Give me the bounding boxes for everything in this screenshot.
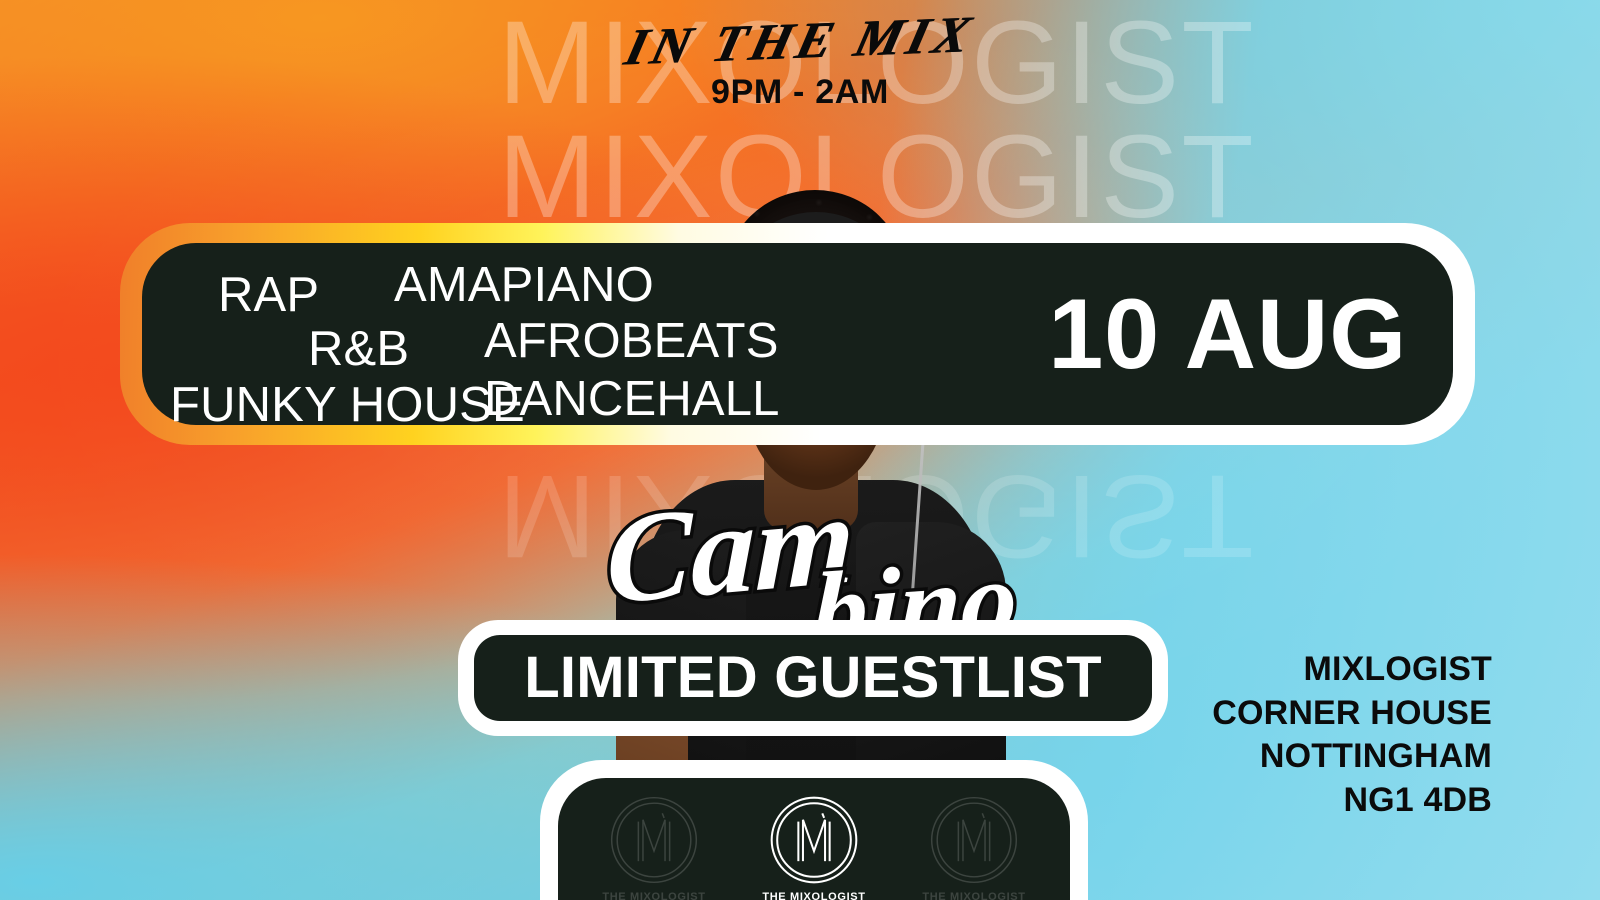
brand-logo-left: THE MIXOLOGIST CORNERHOUSE [594,794,714,900]
genres-date-pill: RAP AMAPIANO R&B AFROBEATS FUNKY HOUSE D… [120,223,1475,445]
venue-line-2: CORNER HOUSE [1212,692,1492,736]
genre-item-funky-house: FUNKY HOUSE [170,381,525,430]
mixologist-m-icon-center [768,794,860,886]
genre-item-afrobeats: AFROBEATS [484,317,779,366]
event-time: 9PM - 2AM [0,73,1600,112]
venue-address: MIXLOGIST CORNER HOUSE NOTTINGHAM NG1 4D… [1212,648,1492,822]
brand-logo-right: THE MIXOLOGIST CORNERHOUSE [914,794,1034,900]
brand-logo-center-line1: THE MIXOLOGIST [762,891,865,900]
brand-logo-left-line1: THE MIXOLOGIST [602,891,705,900]
logo-bar: THE MIXOLOGIST CORNERHOUSE [540,760,1088,900]
brand-logo-center: THE MIXOLOGIST CORNERHOUSE [754,794,874,900]
genre-item-rnb: R&B [308,325,409,374]
genre-list: RAP AMAPIANO R&B AFROBEATS FUNKY HOUSE D… [166,257,886,407]
genre-item-rap: RAP [218,271,319,320]
brand-logo-left-caption: THE MIXOLOGIST CORNERHOUSE [594,890,714,900]
genre-item-dancehall: DANCEHALL [484,375,780,424]
event-flyer: MIXOLOGIST MIXOLOGIST MIXOLOGIST MIXOLOG… [0,0,1600,900]
genre-item-amapiano: AMAPIANO [394,261,654,310]
venue-line-4: NG1 4DB [1212,779,1492,823]
flyer-header: IN THE MIX 9PM - 2AM [0,0,1600,112]
brand-logo-right-line1: THE MIXOLOGIST [922,891,1025,900]
event-date: 10 AUG [1048,277,1407,391]
mixologist-m-icon [608,794,700,886]
venue-line-3: NOTTINGHAM [1212,735,1492,779]
brand-logo-center-caption: THE MIXOLOGIST CORNERHOUSE [754,890,874,900]
logo-bar-inner: THE MIXOLOGIST CORNERHOUSE [558,778,1070,900]
brand-logo-right-caption: THE MIXOLOGIST CORNERHOUSE [914,890,1034,900]
guestlist-pill: LIMITED GUESTLIST [458,620,1168,736]
venue-line-1: MIXLOGIST [1212,648,1492,692]
in-the-mix-title: IN THE MIX [619,5,981,77]
genres-date-pill-inner: RAP AMAPIANO R&B AFROBEATS FUNKY HOUSE D… [142,243,1453,425]
mixologist-m-icon-right [928,794,1020,886]
guestlist-pill-inner: LIMITED GUESTLIST [474,635,1152,721]
guestlist-label: LIMITED GUESTLIST [524,649,1102,707]
